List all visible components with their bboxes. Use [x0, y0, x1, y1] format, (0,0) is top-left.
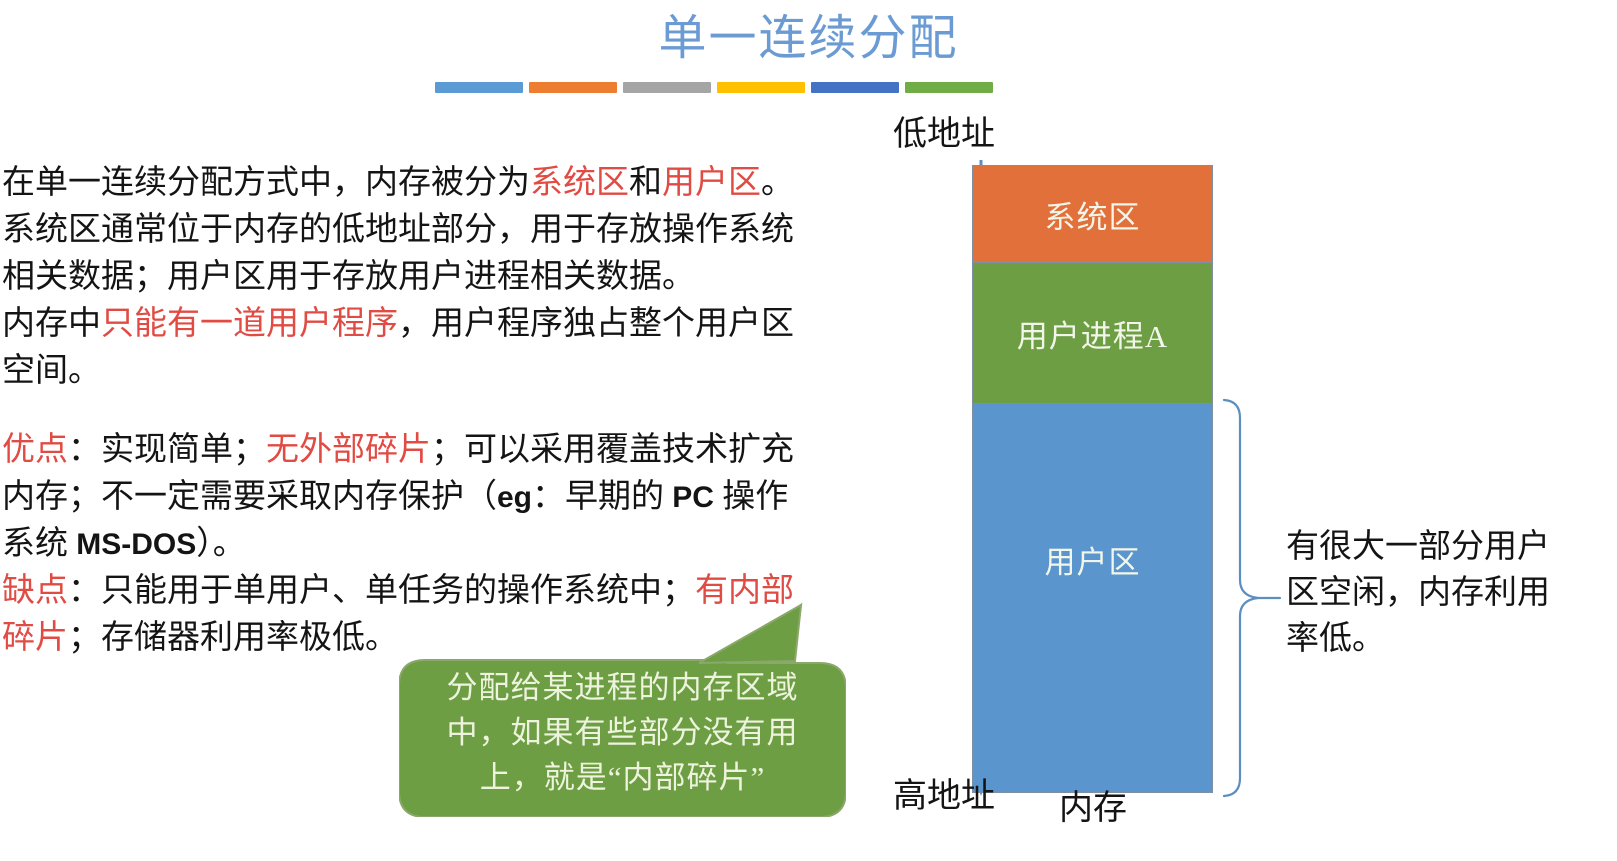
free-note-line-3: 率低。 — [1286, 616, 1616, 662]
p1l1-highlight-system-area: 系统区 — [530, 165, 629, 201]
pros-pc-token: PC — [672, 481, 714, 514]
p1l4-b: ，用户程序独占整个用户区 — [398, 306, 794, 342]
memory-block-user-process-a: 用户进程A — [972, 262, 1213, 404]
cons-label: 缺点 — [2, 573, 68, 609]
memory-caption-label: 内存 — [1059, 787, 1127, 831]
paragraph-1-line-1: 在单一连续分配方式中，内存被分为系统区和用户区。 — [2, 160, 862, 207]
pros-eg-token: eg — [497, 481, 532, 514]
low-address-label: 低地址 — [893, 113, 995, 157]
rule-segment-1 — [435, 82, 523, 93]
pros-l2-b: ：早期的 — [532, 479, 672, 515]
rule-segment-5 — [811, 82, 899, 93]
paragraph-spacer — [2, 395, 862, 427]
pros-label: 优点 — [2, 432, 68, 468]
free-note-line-1: 有很大一部分用户 — [1286, 524, 1616, 570]
pros-l3-a: 系统 — [2, 526, 76, 562]
rule-segment-4 — [717, 82, 805, 93]
paragraph-2-pros-line-3: 系统 MS-DOS）。 — [2, 521, 862, 568]
memory-block-system-area: 系统区 — [972, 165, 1213, 263]
memory-block-system-area-label: 系统区 — [1045, 192, 1141, 237]
rule-segment-6 — [905, 82, 993, 93]
callout-line-3: 上，就是“内部碎片” — [425, 755, 820, 800]
p1l4-a: 内存中 — [2, 306, 101, 342]
p1l1-a: 在单一连续分配方式中，内存被分为 — [2, 165, 530, 201]
rule-segment-2 — [529, 82, 617, 93]
paragraph-2-pros-line-1: 优点：实现简单；无外部碎片；可以采用覆盖技术扩充 — [2, 427, 862, 474]
rule-segment-3 — [623, 82, 711, 93]
pros-l2-c: 操作 — [714, 479, 788, 515]
body-text-block: 在单一连续分配方式中，内存被分为系统区和用户区。 系统区通常位于内存的低地址部分… — [2, 160, 862, 662]
pros-highlight-no-external-fragmentation: 无外部碎片 — [266, 432, 431, 468]
p1l1-b: 和 — [629, 165, 662, 201]
pros-l3-b: ）。 — [196, 526, 246, 562]
cons-highlight-internal-fragmentation-2: 碎片 — [2, 620, 68, 656]
p1l1-highlight-user-area: 用户区 — [662, 165, 761, 201]
paragraph-1-line-5: 空间。 — [2, 348, 862, 395]
free-note-line-2: 区空闲，内存利用 — [1286, 570, 1616, 616]
callout-line-1: 分配给某进程的内存区域 — [425, 665, 820, 710]
high-address-label: 高地址 — [893, 775, 995, 819]
memory-stack: 系统区 用户进程A 用户区 — [972, 165, 1213, 793]
callout-line-2: 中，如果有些部分没有用 — [425, 710, 820, 755]
pros-msdos-token: MS-DOS — [76, 528, 196, 561]
paragraph-1-line-4: 内存中只能有一道用户程序，用户程序独占整个用户区 — [2, 301, 862, 348]
paragraph-1-line-2: 系统区通常位于内存的低地址部分，用于存放操作系统 — [2, 207, 862, 254]
paragraph-2-pros-line-2: 内存；不一定需要采取内存保护（eg：早期的 PC 操作 — [2, 474, 862, 521]
title-underline-rule — [435, 82, 993, 93]
free-space-note: 有很大一部分用户 区空闲，内存利用 率低。 — [1286, 524, 1616, 662]
paragraph-1-line-3: 相关数据；用户区用于存放用户进程相关数据。 — [2, 254, 862, 301]
pros-a: ：实现简单； — [68, 432, 266, 468]
p1l4-highlight-single-program: 只能有一道用户程序 — [101, 306, 398, 342]
pros-l2-a: 内存；不一定需要采取内存保护（ — [2, 479, 497, 515]
internal-fragmentation-callout: 分配给某进程的内存区域 中，如果有些部分没有用 上，就是“内部碎片” — [399, 601, 846, 817]
pros-b: ；可以采用覆盖技术扩充 — [431, 432, 794, 468]
page-title: 单一连续分配 — [0, 8, 1617, 70]
memory-block-user-process-a-label: 用户进程A — [1017, 311, 1168, 356]
memory-block-user-area: 用户区 — [972, 403, 1213, 793]
p1l1-c: 。 — [761, 165, 794, 201]
cons-b: ；存储器利用率极低。 — [68, 620, 398, 656]
free-space-brace — [1218, 398, 1294, 798]
memory-block-user-area-label: 用户区 — [1045, 537, 1141, 582]
callout-text: 分配给某进程的内存区域 中，如果有些部分没有用 上，就是“内部碎片” — [425, 665, 820, 800]
